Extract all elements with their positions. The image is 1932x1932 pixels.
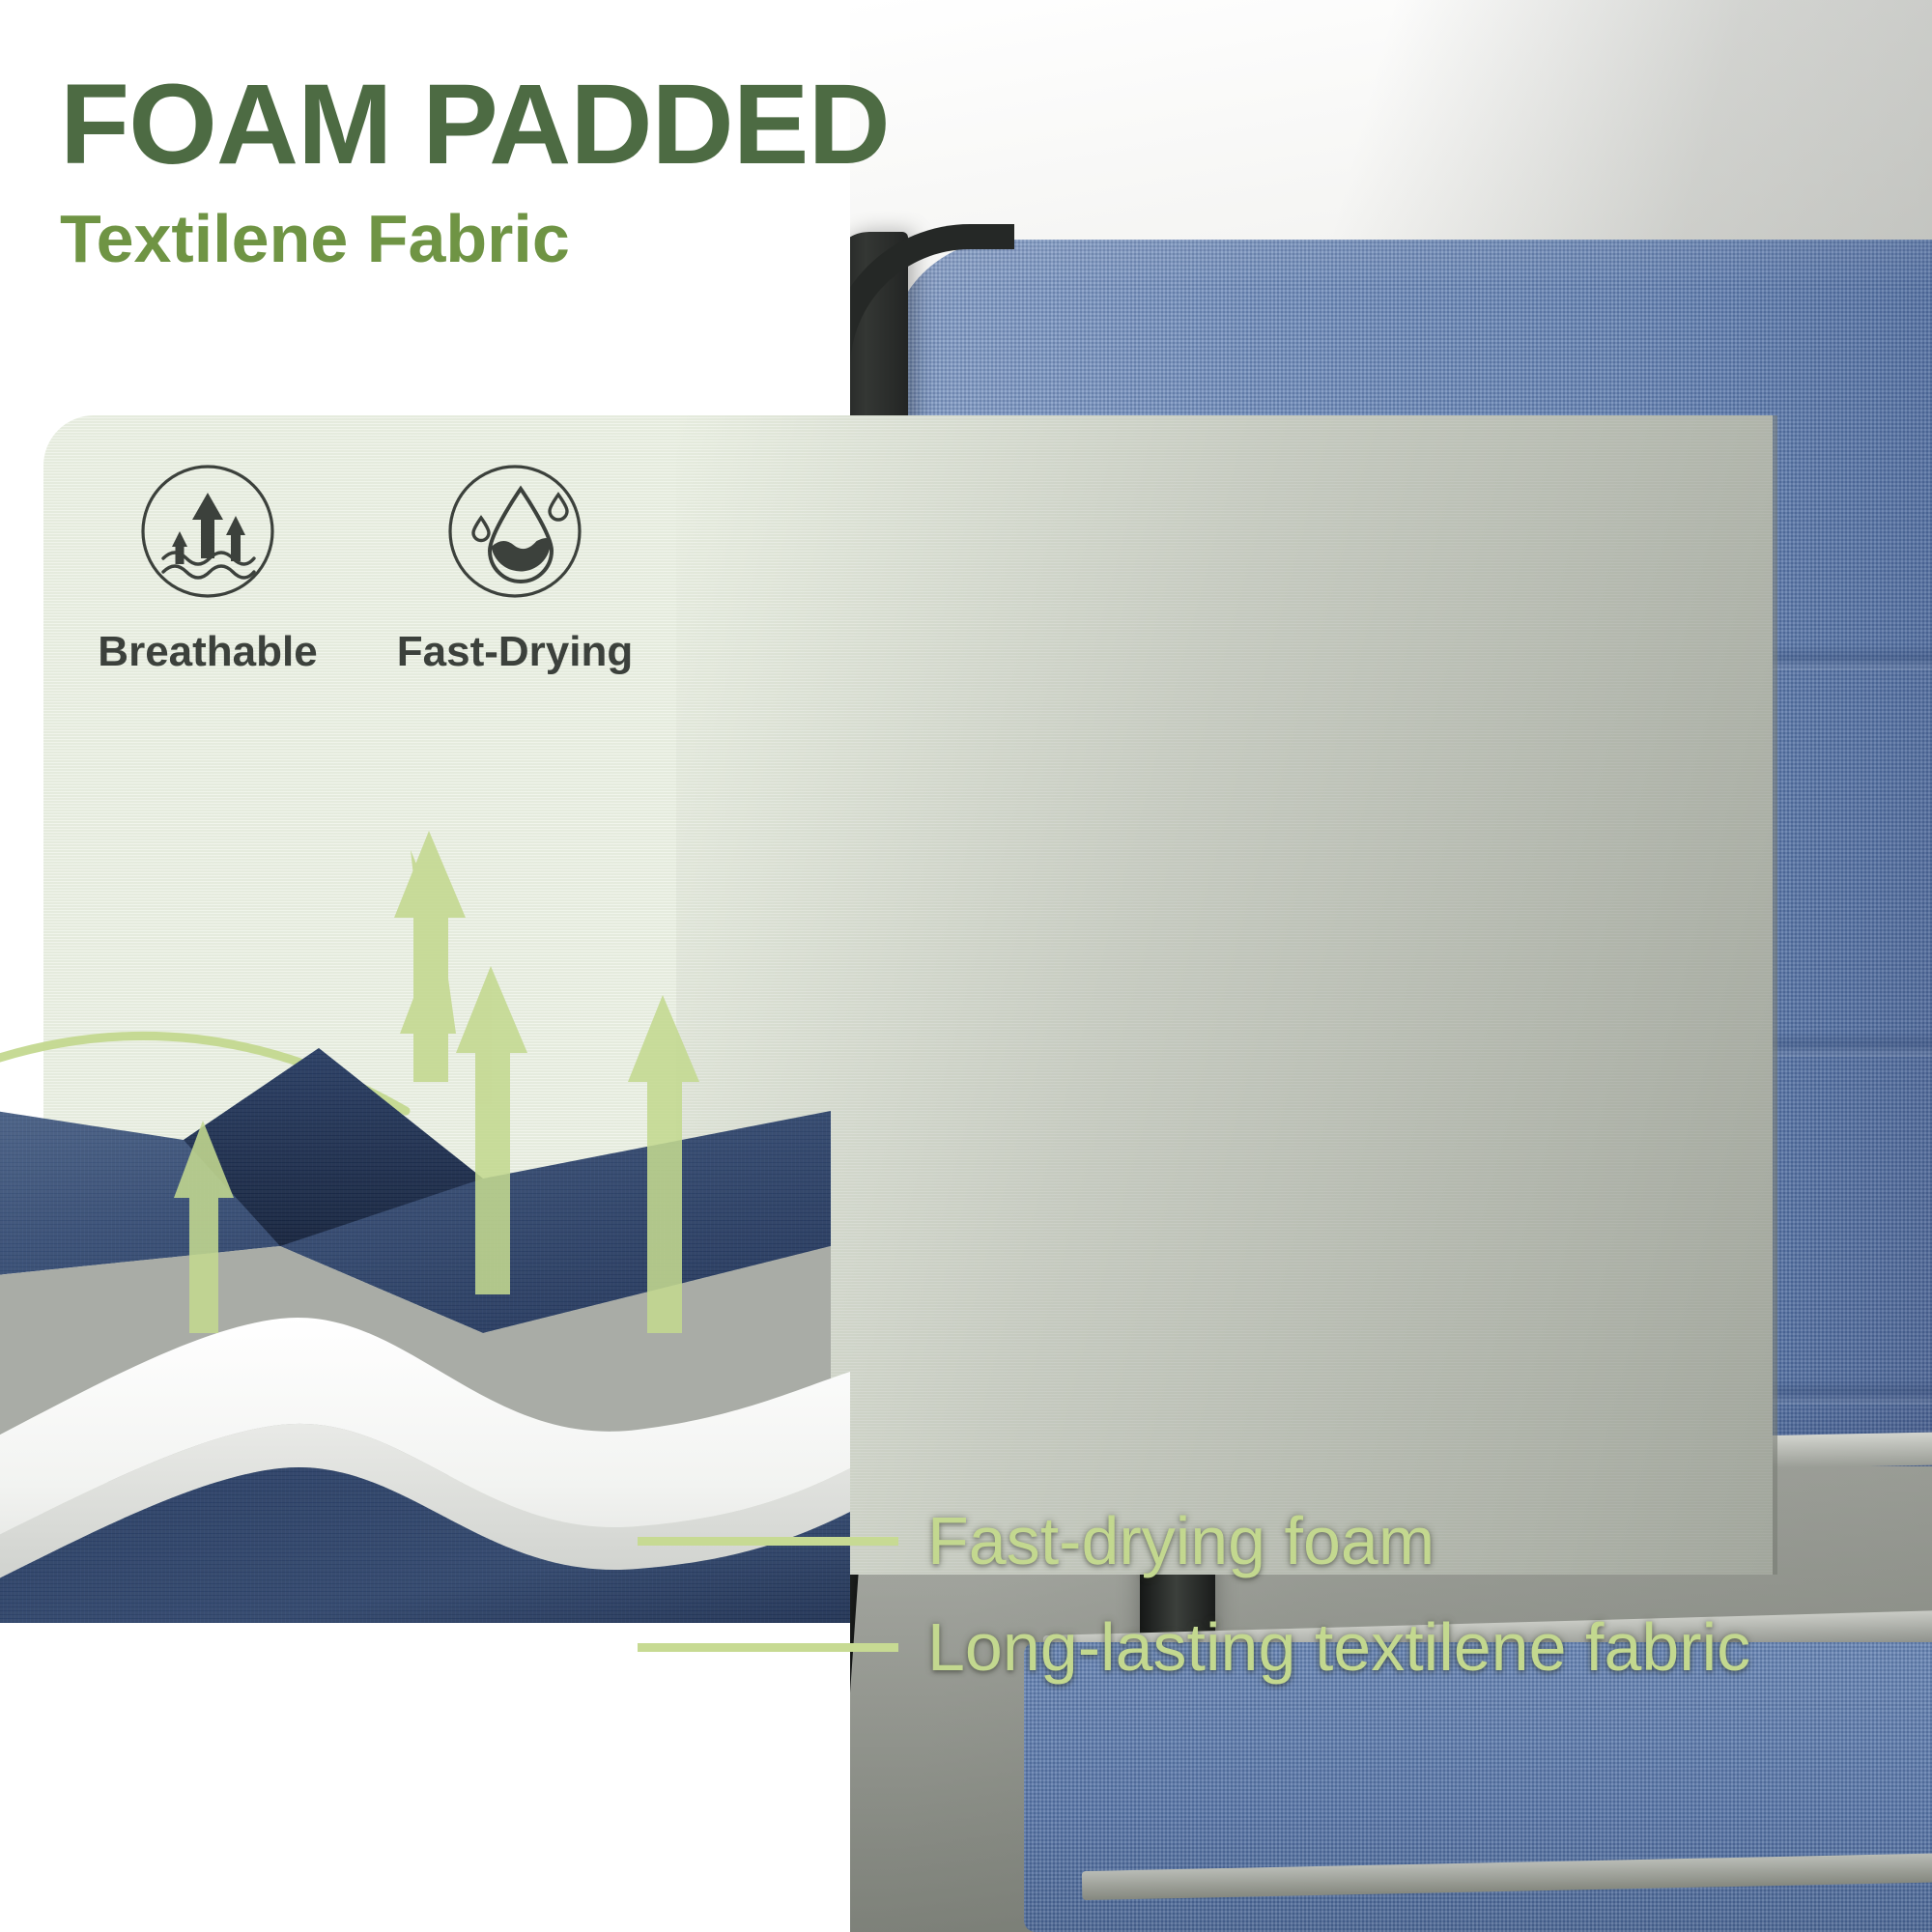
- feature-label: Breathable: [98, 628, 317, 676]
- headline-block: FOAM PADDED Textilene Fabric: [60, 68, 890, 272]
- feature-breathable: Breathable: [116, 462, 299, 676]
- callout-list: Fast-drying foam Long-lasting textilene …: [638, 1488, 1750, 1700]
- infographic-canvas: FOAM PADDED Textilene Fabric Bre: [0, 0, 1932, 1932]
- feature-fast-drying: Fast-Drying: [423, 462, 607, 676]
- page-subtitle: Textilene Fabric: [60, 205, 890, 272]
- feature-list: Breathable Fast-Drying: [116, 462, 607, 676]
- leader-line: [638, 1537, 898, 1546]
- callout-label: Long-lasting textilene fabric: [927, 1608, 1750, 1686]
- water-droplet-icon: [445, 462, 584, 601]
- callout-fast-drying-foam: Fast-drying foam: [638, 1488, 1750, 1594]
- breathable-arrows-waves-icon: [138, 462, 277, 601]
- feature-label: Fast-Drying: [397, 628, 633, 676]
- page-title: FOAM PADDED: [60, 68, 890, 182]
- callout-label: Fast-drying foam: [927, 1502, 1435, 1579]
- callout-long-lasting-fabric: Long-lasting textilene fabric: [638, 1594, 1750, 1700]
- leader-line: [638, 1643, 898, 1652]
